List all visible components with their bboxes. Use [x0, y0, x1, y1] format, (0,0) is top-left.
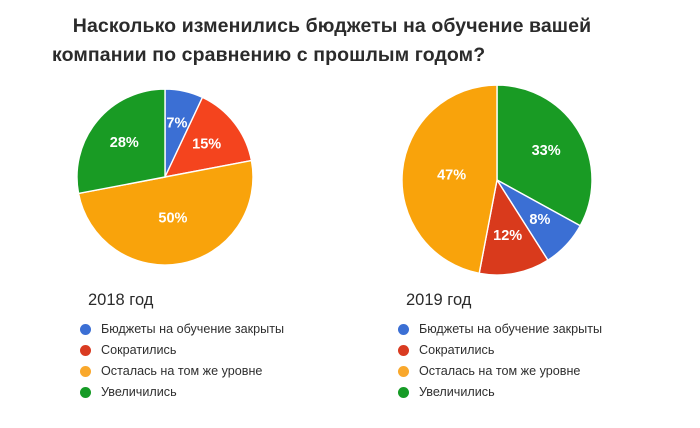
- caption-block-2018: 2018 год Бюджеты на обучение закрытыСокр…: [36, 290, 356, 404]
- legend-color-swatch-icon: [398, 345, 409, 356]
- legend-item-label: Осталась на том же уровне: [419, 364, 580, 379]
- infographic-root: Насколько изменились бюджеты на обучение…: [0, 0, 700, 428]
- legend-item[interactable]: Осталась на том же уровне: [80, 362, 356, 381]
- pie-slice-label: 50%: [158, 210, 187, 226]
- legend-item-label: Сократились: [101, 343, 176, 358]
- legend-color-swatch-icon: [398, 324, 409, 335]
- legend-color-swatch-icon: [398, 366, 409, 377]
- pie-slice-label: 47%: [437, 168, 466, 184]
- legend-color-swatch-icon: [80, 387, 91, 398]
- legend-item[interactable]: Увеличились: [398, 383, 694, 402]
- legend-item[interactable]: Бюджеты на обучение закрыты: [80, 320, 356, 339]
- pie-svg-2018: 7%15%50%28%: [36, 78, 336, 288]
- caption-block-2019: 2019 год Бюджеты на обучение закрытыСокр…: [374, 290, 694, 404]
- chart-panel-2019: 33%8%12%47%: [374, 78, 674, 288]
- pie-slice-label: 28%: [110, 135, 139, 151]
- pie-slice-label: 33%: [532, 143, 561, 159]
- legend-item-label: Увеличились: [419, 385, 495, 400]
- legend-color-swatch-icon: [80, 345, 91, 356]
- legend-item-label: Бюджеты на обучение закрыты: [419, 322, 602, 337]
- title-line-2: компании по сравнению с прошлым годом?: [52, 41, 652, 70]
- pie-chart-2018: 7%15%50%28%: [36, 78, 336, 288]
- year-label-2018: 2018 год: [36, 290, 356, 310]
- chart-panel-2018: 7%15%50%28%: [36, 78, 336, 288]
- legend-item-label: Увеличились: [101, 385, 177, 400]
- legend-item[interactable]: Увеличились: [80, 383, 356, 402]
- legend-color-swatch-icon: [80, 366, 91, 377]
- pie-slice-label: 15%: [192, 136, 221, 152]
- pie-slice-label: 12%: [493, 228, 522, 244]
- pie-slice-label: 8%: [529, 212, 550, 228]
- year-label-2019: 2019 год: [374, 290, 694, 310]
- legend-2019: Бюджеты на обучение закрытыСократилисьОс…: [374, 320, 694, 402]
- pie-svg-2019: 33%8%12%47%: [374, 78, 674, 288]
- legend-item-label: Сократились: [419, 343, 494, 358]
- legend-color-swatch-icon: [80, 324, 91, 335]
- legend-color-swatch-icon: [398, 387, 409, 398]
- legend-item-label: Бюджеты на обучение закрыты: [101, 322, 284, 337]
- legend-item[interactable]: Сократились: [80, 341, 356, 360]
- legend-item[interactable]: Сократились: [398, 341, 694, 360]
- pie-chart-2019: 33%8%12%47%: [374, 78, 674, 288]
- page-title: Насколько изменились бюджеты на обучение…: [52, 12, 652, 70]
- pie-slice-label: 7%: [166, 116, 187, 132]
- title-line-1: Насколько изменились бюджеты на обучение…: [52, 12, 652, 41]
- legend-item-label: Осталась на том же уровне: [101, 364, 262, 379]
- legend-item[interactable]: Осталась на том же уровне: [398, 362, 694, 381]
- legend-2018: Бюджеты на обучение закрытыСократилисьОс…: [36, 320, 356, 402]
- legend-item[interactable]: Бюджеты на обучение закрыты: [398, 320, 694, 339]
